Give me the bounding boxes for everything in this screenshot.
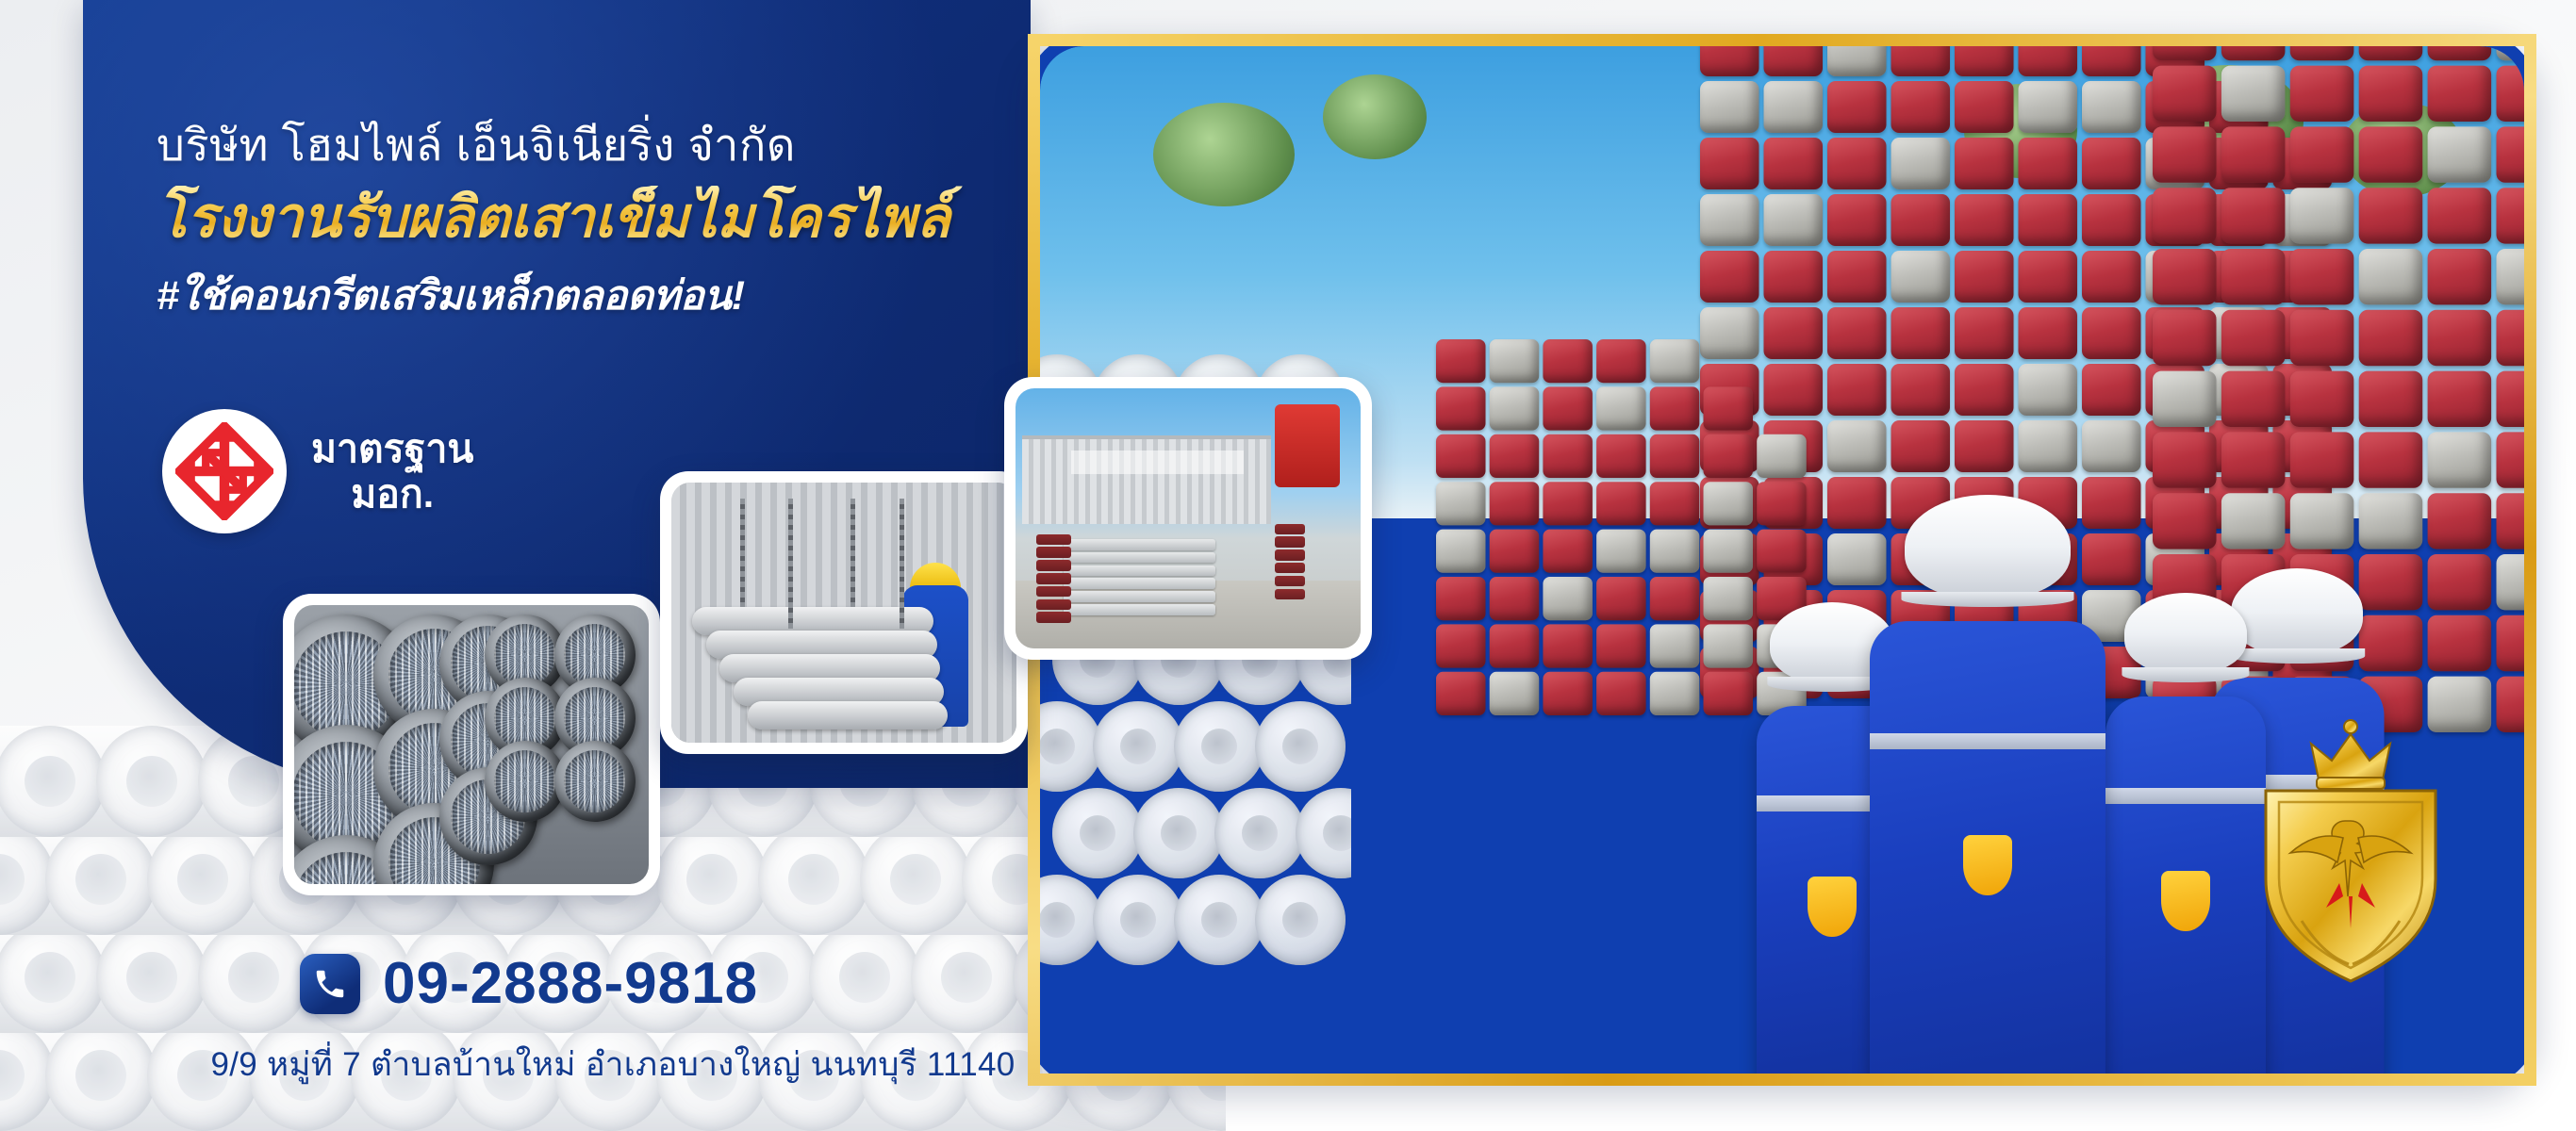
worker-figure (1870, 495, 2105, 1074)
inset-photo-lifting-piles (660, 471, 1028, 754)
phone-contact[interactable]: 09-2888-9818 (300, 954, 758, 1014)
tis-label-line2: มอก. (351, 472, 434, 516)
inset-photo-lifting-piles-image (671, 483, 1016, 743)
phone-number[interactable]: 09-2888-9818 (383, 955, 758, 1013)
tis-standard-icon (162, 409, 287, 533)
company-name: บริษัท โฮมไพล์ เอ็นจิเนียริ่ง จำกัด (157, 119, 1005, 171)
address-line: 9/9 หมู่ที่ 7 ตำบลบ้านใหม่ อำเภอบางใหญ่ … (189, 1039, 1037, 1090)
banner-root: บริษัท โฮมไพล์ เอ็นจิเนียริ่ง จำกัด โรงง… (0, 0, 2576, 1131)
inset-photo-rebar-cages-image (294, 605, 649, 884)
concrete-pile-stack (1436, 339, 1807, 715)
tis-standard-badge: มาตรฐาน มอก. (162, 409, 473, 533)
headline-block: บริษัท โฮมไพล์ เอ็นจิเนียริ่ง จำกัด โรงง… (157, 119, 1005, 327)
main-headline: โรงงานรับผลิตเสาเข็มไมโครไพล์ (157, 186, 1005, 249)
hashtag-line: #ใช้คอนกรีตเสริมเหล็กตลอดท่อน! (157, 263, 1005, 327)
crest-emblem-icon (2228, 712, 2473, 994)
inset-photo-rebar-cages (283, 594, 660, 895)
tis-label-line1: มาตรฐาน (311, 427, 473, 470)
tis-standard-label: มาตรฐาน มอก. (311, 426, 473, 517)
phone-icon (300, 954, 360, 1014)
inset-photo-factory (1004, 377, 1372, 660)
inset-photo-factory-image (1016, 388, 1361, 648)
